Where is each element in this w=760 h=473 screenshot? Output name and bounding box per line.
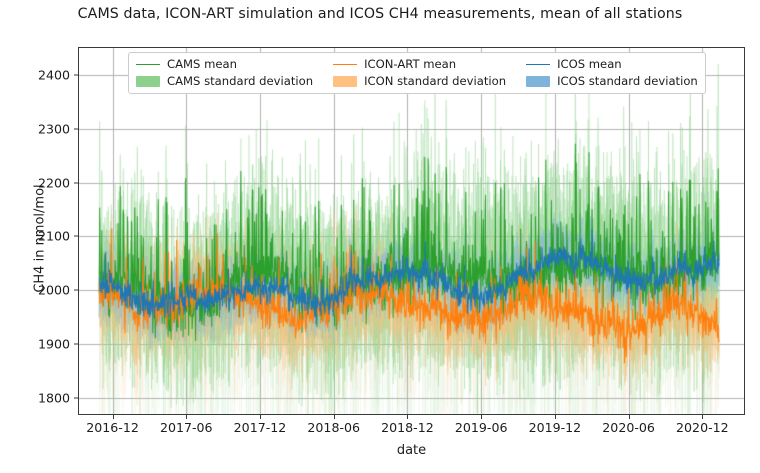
legend-patch-swatch [333, 76, 357, 87]
legend-patch-swatch [136, 76, 160, 87]
legend-label: CAMS mean [167, 57, 237, 72]
y-tick-label: 1900 [12, 337, 70, 352]
legend-item: CAMS mean [136, 57, 313, 72]
chart-figure: CAMS data, ICON-ART simulation and ICOS … [0, 0, 760, 473]
x-tick-mark [334, 415, 335, 419]
legend-item: CAMS standard deviation [136, 74, 313, 89]
x-tick-label: 2019-12 [529, 420, 582, 435]
x-tick-label: 2018-12 [381, 420, 434, 435]
x-tick-label: 2017-12 [234, 420, 287, 435]
legend-item: ICON-ART mean [333, 57, 506, 72]
legend-item: ICOS standard deviation [526, 74, 698, 89]
legend-line-swatch [526, 64, 550, 65]
y-tick-label: 1800 [12, 390, 70, 405]
x-tick-mark [186, 415, 187, 419]
x-tick-label: 2019-06 [455, 420, 508, 435]
chart-legend: CAMS meanICON-ART meanICOS meanCAMS stan… [128, 52, 706, 94]
y-tick-label: 2400 [12, 67, 70, 82]
x-tick-label: 2017-06 [160, 420, 213, 435]
legend-label: CAMS standard deviation [167, 74, 313, 89]
x-tick-mark [407, 415, 408, 419]
y-tick-label: 2100 [12, 229, 70, 244]
x-tick-label: 2018-06 [307, 420, 360, 435]
legend-patch-swatch [526, 76, 550, 87]
x-tick-label: 2020-12 [676, 420, 729, 435]
legend-line-swatch [136, 64, 160, 65]
y-tick-label: 2200 [12, 175, 70, 190]
y-tick-label: 2300 [12, 121, 70, 136]
x-axis-label: date [78, 443, 745, 458]
x-tick-mark [260, 415, 261, 419]
legend-label: ICOS mean [557, 57, 622, 72]
legend-label: ICOS standard deviation [557, 74, 698, 89]
legend-label: ICON standard deviation [364, 74, 506, 89]
x-tick-mark [555, 415, 556, 419]
x-tick-label: 2016-12 [86, 420, 139, 435]
chart-title: CAMS data, ICON-ART simulation and ICOS … [0, 6, 760, 22]
x-tick-mark [702, 415, 703, 419]
plot-area [78, 47, 745, 415]
x-tick-mark [629, 415, 630, 419]
series-canvas [79, 48, 744, 414]
x-tick-label: 2020-06 [602, 420, 655, 435]
legend-item: ICOS mean [526, 57, 698, 72]
legend-line-swatch [333, 64, 357, 65]
legend-item: ICON standard deviation [333, 74, 506, 89]
legend-label: ICON-ART mean [364, 57, 456, 72]
y-tick-label: 2000 [12, 283, 70, 298]
x-tick-mark [113, 415, 114, 419]
x-tick-mark [481, 415, 482, 419]
